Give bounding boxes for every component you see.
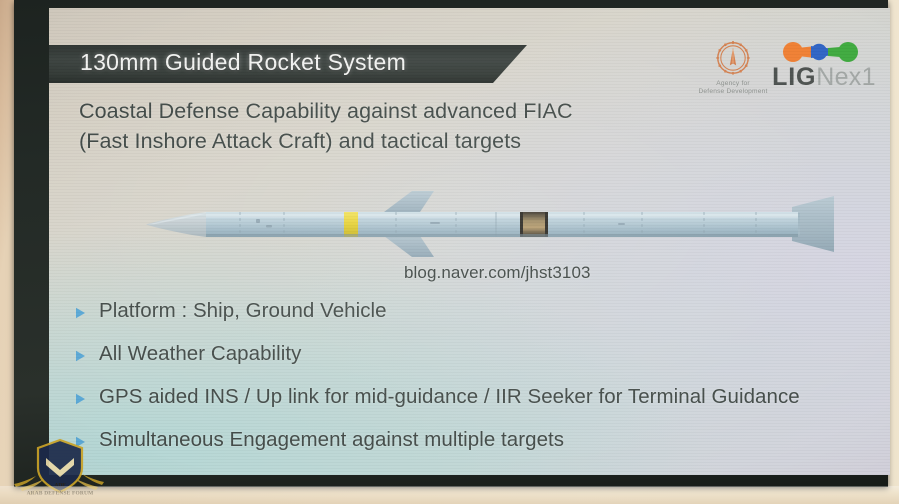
list-item-label: All Weather Capability bbox=[99, 341, 301, 367]
agency-for-defense-development-logo-icon bbox=[713, 38, 753, 78]
subtitle: Coastal Defense Capability against advan… bbox=[79, 96, 679, 156]
list-item: All Weather Capability bbox=[75, 341, 875, 384]
subtitle-line-1: Coastal Defense Capability against advan… bbox=[79, 96, 679, 126]
arab-defense-forum-watermark: ADF ARAB DEFENSE FORUM bbox=[8, 424, 112, 500]
list-item: Platform : Ship, Ground Vehicle bbox=[75, 298, 875, 341]
arab-defense-forum-shield-icon: ADF ARAB DEFENSE FORUM bbox=[8, 424, 112, 500]
subtitle-line-2: (Fast Inshore Attack Craft) and tactical… bbox=[79, 126, 679, 156]
lig-word: LIG bbox=[772, 63, 816, 91]
triangle-right-bullet-icon bbox=[75, 384, 99, 405]
triangle-right-bullet-icon bbox=[75, 298, 99, 319]
page-title: 130mm Guided Rocket System bbox=[80, 49, 406, 76]
lig-nex1-logo-icon bbox=[781, 41, 867, 63]
guided-rocket-illustration bbox=[144, 163, 844, 273]
list-item-label: Simultaneous Engagement against multiple… bbox=[99, 427, 564, 453]
triangle-right-bullet-icon bbox=[75, 341, 99, 362]
presentation-slide: 130mm Guided Rocket System Coastal Defen… bbox=[49, 8, 890, 475]
list-item: Simultaneous Engagement against multiple… bbox=[75, 427, 875, 470]
watermark-line-1: ADF bbox=[54, 483, 66, 489]
list-item-label: GPS aided INS / Up link for mid-guidance… bbox=[99, 384, 800, 410]
blog-url-watermark: blog.naver.com/jhst3103 bbox=[404, 263, 591, 283]
list-item: GPS aided INS / Up link for mid-guidance… bbox=[75, 384, 875, 427]
lig-nex1-wordmark: LIGNex1 bbox=[759, 64, 889, 91]
watermark-line-2: ARAB DEFENSE FORUM bbox=[27, 491, 94, 497]
feature-bullet-list: Platform : Ship, Ground Vehicle All Weat… bbox=[75, 298, 875, 470]
guided-rocket-missile-icon bbox=[144, 163, 844, 273]
display-bezel: 130mm Guided Rocket System Coastal Defen… bbox=[14, 0, 888, 487]
projected-slide-photo: 130mm Guided Rocket System Coastal Defen… bbox=[0, 0, 899, 504]
nex1-word: Nex1 bbox=[816, 63, 876, 91]
wall-ledge bbox=[0, 486, 899, 504]
list-item-label: Platform : Ship, Ground Vehicle bbox=[99, 298, 387, 324]
lig-nex1-logo: LIGNex1 bbox=[759, 41, 889, 91]
